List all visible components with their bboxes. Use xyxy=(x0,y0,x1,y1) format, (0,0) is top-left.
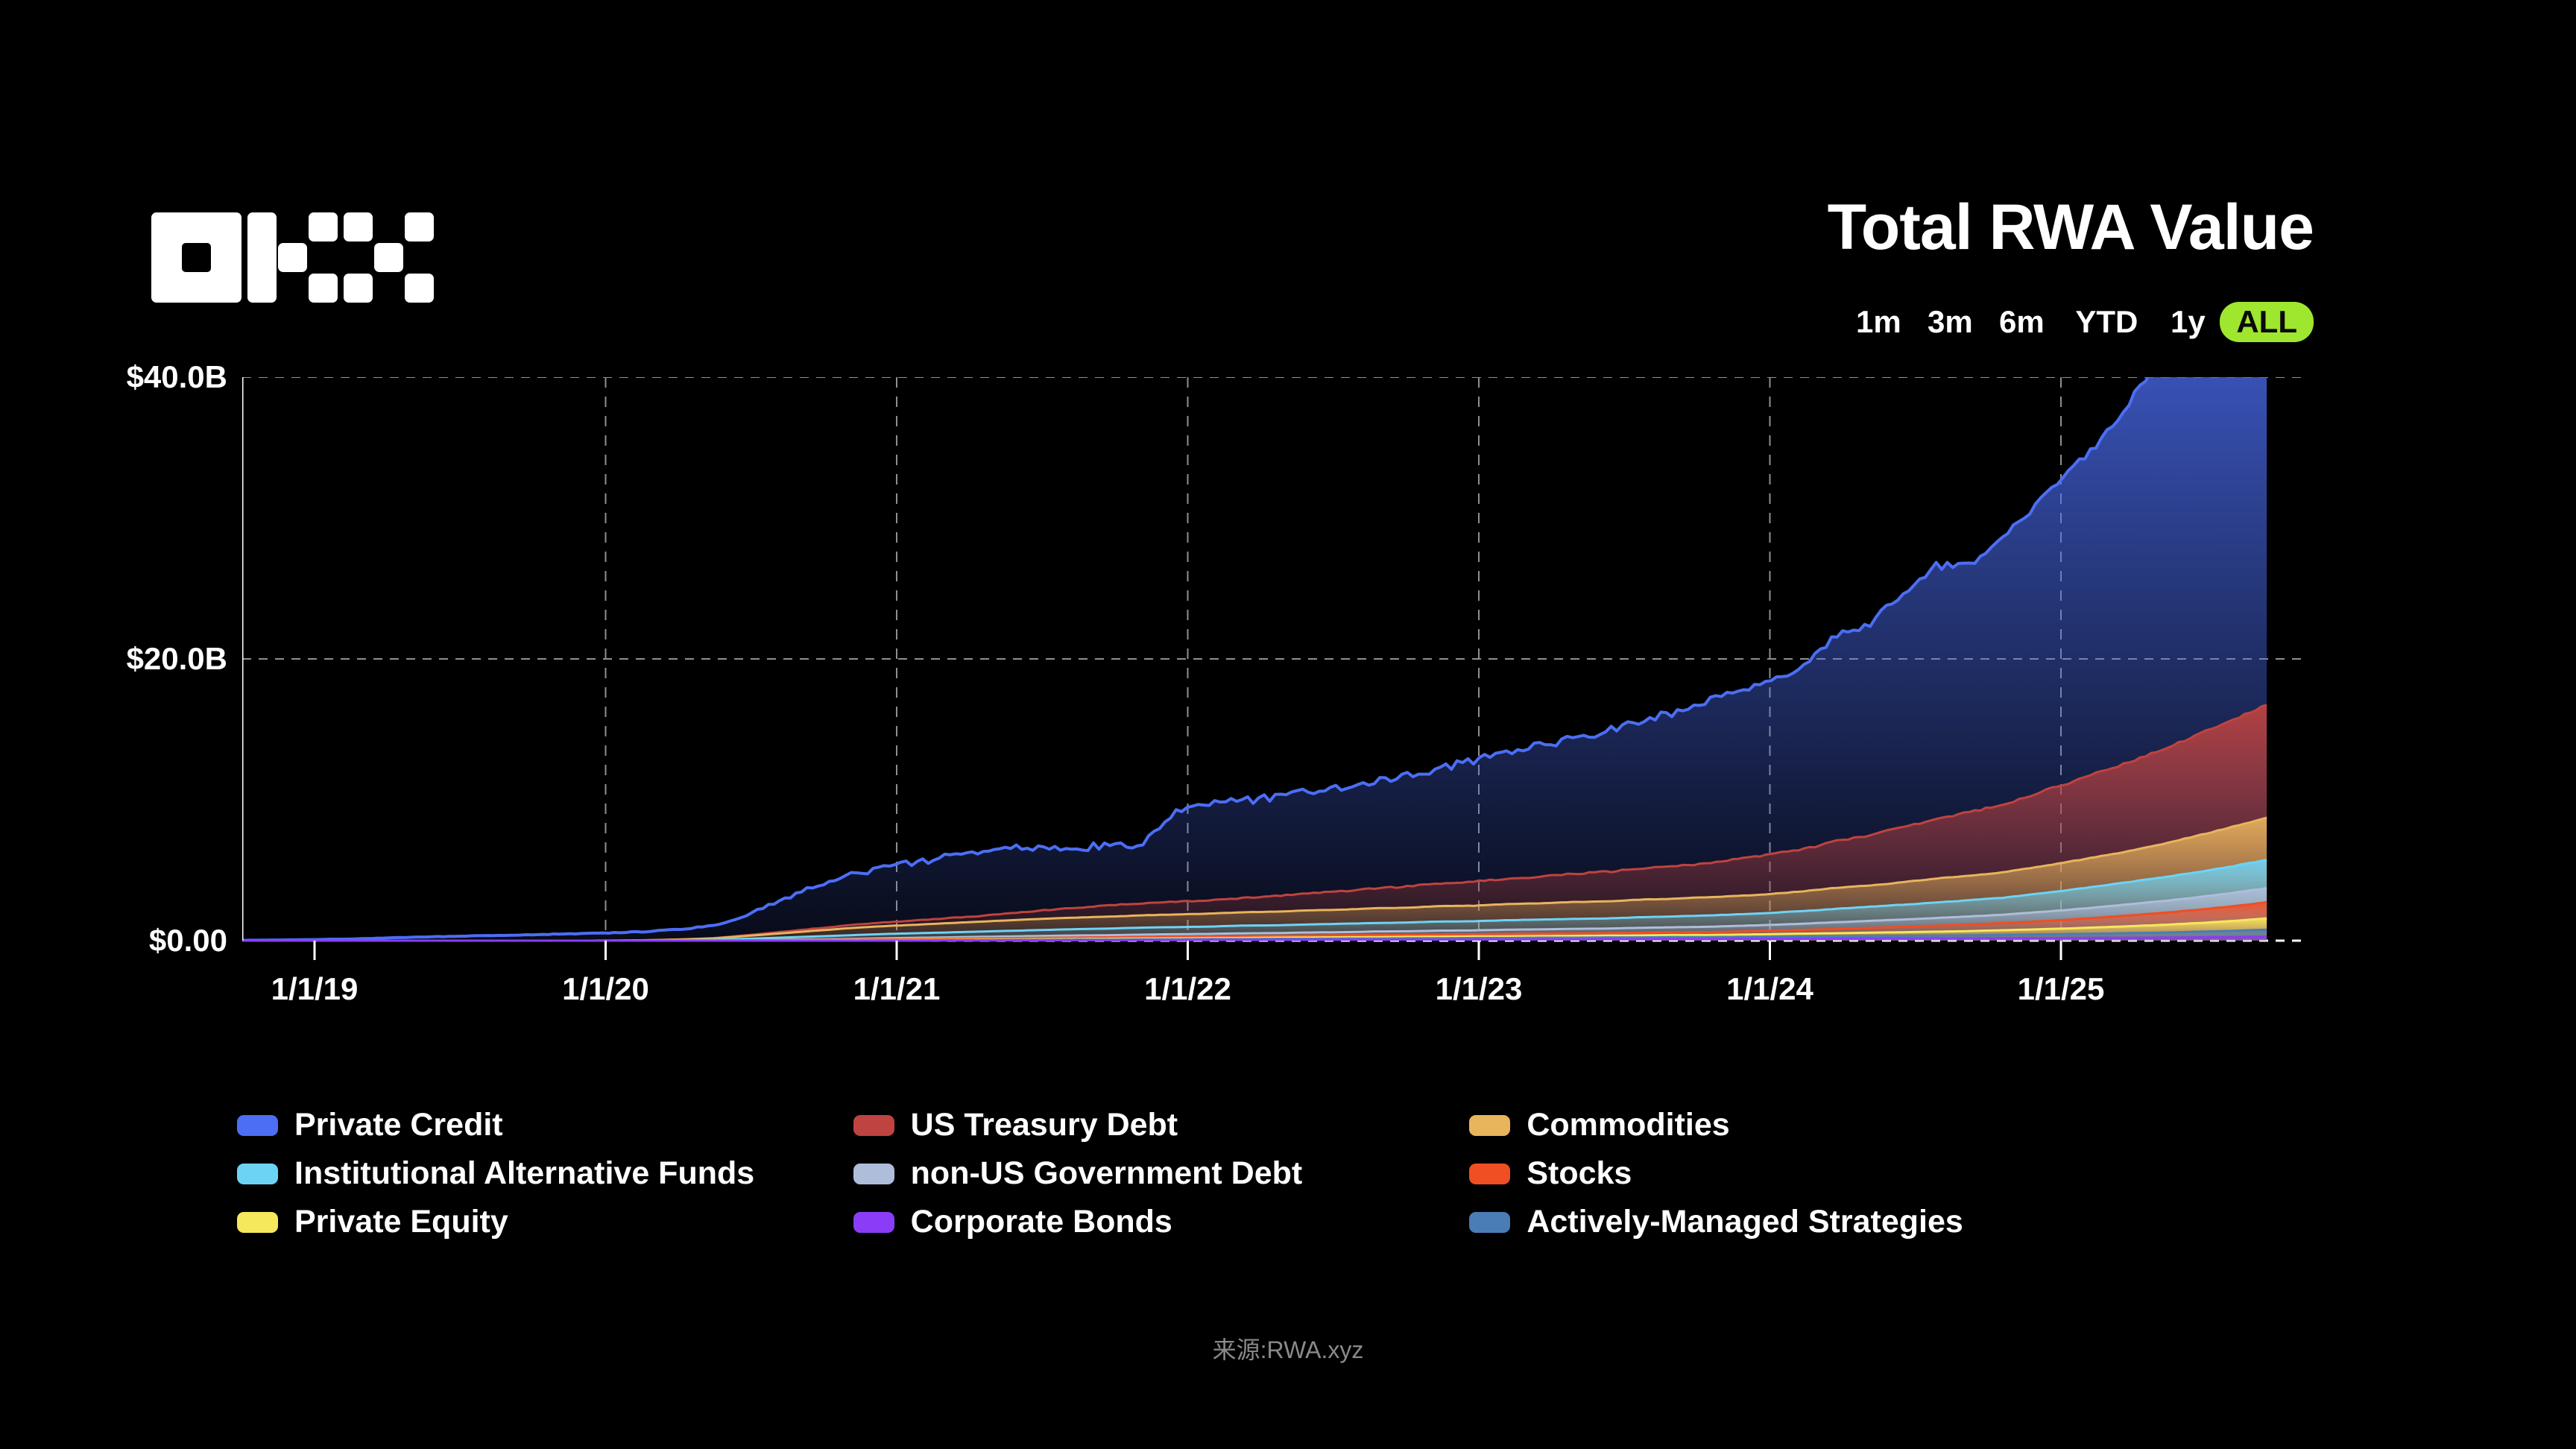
legend-label: US Treasury Debt xyxy=(911,1109,1178,1141)
legend-swatch-icon xyxy=(237,1212,278,1233)
legend-label: Stocks xyxy=(1527,1158,1632,1190)
range-button-ytd[interactable]: YTD xyxy=(2057,301,2156,343)
range-button-3m[interactable]: 3m xyxy=(1914,301,1986,343)
y-tick-label: $40.0B xyxy=(127,362,227,393)
logo-cell xyxy=(374,243,403,272)
legend-item[interactable]: Institutional Alternative Funds xyxy=(237,1158,853,1190)
legend-swatch-icon xyxy=(237,1164,278,1184)
range-button-all[interactable]: ALL xyxy=(2220,302,2314,342)
legend-label: Commodities xyxy=(1527,1109,1729,1141)
legend-swatch-icon xyxy=(853,1164,894,1184)
legend-item[interactable]: Private Credit xyxy=(237,1109,853,1141)
legend-label: Institutional Alternative Funds xyxy=(294,1158,754,1190)
legend-item[interactable]: non-US Government Debt xyxy=(853,1158,1470,1190)
range-button-6m[interactable]: 6m xyxy=(1986,301,2057,343)
area-chart-svg xyxy=(242,377,2332,985)
x-tick-label: 1/1/23 xyxy=(1436,973,1523,1005)
legend-label: Actively-Managed Strategies xyxy=(1527,1206,1963,1238)
x-tick-label: 1/1/24 xyxy=(1726,973,1813,1005)
range-button-1y[interactable]: 1y xyxy=(2156,301,2220,343)
legend-item[interactable]: Commodities xyxy=(1469,1109,2086,1141)
page-title: Total RWA Value xyxy=(1828,195,2314,259)
x-tick-label: 1/1/21 xyxy=(853,973,941,1005)
x-axis-labels: 1/1/191/1/201/1/211/1/221/1/231/1/241/1/… xyxy=(0,973,2576,1018)
legend-label: Corporate Bonds xyxy=(911,1206,1172,1238)
source-caption: 来源:RWA.xyz xyxy=(0,1331,2576,1366)
legend-item[interactable]: Private Equity xyxy=(237,1206,853,1238)
logo-cell xyxy=(309,212,338,241)
chart-plot-area xyxy=(242,377,2302,941)
y-axis-labels: $0.00$20.0B$40.0B xyxy=(0,0,227,1044)
legend-swatch-icon xyxy=(853,1212,894,1233)
legend-label: non-US Government Debt xyxy=(911,1158,1303,1190)
y-tick-label: $0.00 xyxy=(149,925,227,956)
range-selector[interactable]: 1m3m6mYTD1yALL xyxy=(1843,301,2314,343)
logo-cell xyxy=(405,212,434,241)
logo-cell xyxy=(405,274,434,303)
legend-label: Private Credit xyxy=(294,1109,503,1141)
logo-cell xyxy=(278,243,307,272)
logo-cell xyxy=(309,274,338,303)
legend-item[interactable]: US Treasury Debt xyxy=(853,1109,1470,1141)
legend-swatch-icon xyxy=(853,1115,894,1136)
x-tick-label: 1/1/25 xyxy=(2018,973,2105,1005)
legend-item[interactable]: Actively-Managed Strategies xyxy=(1469,1206,2086,1238)
legend-swatch-icon xyxy=(1469,1212,1510,1233)
legend-swatch-icon xyxy=(1469,1115,1510,1136)
x-tick-label: 1/1/19 xyxy=(271,973,359,1005)
logo-cell xyxy=(247,212,277,303)
y-tick-label: $20.0B xyxy=(127,643,227,675)
chart-legend: Private CreditUS Treasury DebtCommoditie… xyxy=(237,1109,2086,1238)
range-button-1m[interactable]: 1m xyxy=(1843,301,1914,343)
legend-item[interactable]: Corporate Bonds xyxy=(853,1206,1470,1238)
x-tick-label: 1/1/20 xyxy=(562,973,649,1005)
legend-swatch-icon xyxy=(1469,1164,1510,1184)
logo-cell xyxy=(344,274,373,303)
logo-cell xyxy=(344,212,373,241)
legend-label: Private Equity xyxy=(294,1206,508,1238)
chart-poster: Total RWA Value 1m3m6mYTD1yALL $0.00$20.… xyxy=(0,0,2576,1449)
legend-item[interactable]: Stocks xyxy=(1469,1158,2086,1190)
x-tick-label: 1/1/22 xyxy=(1144,973,1231,1005)
legend-swatch-icon xyxy=(237,1115,278,1136)
